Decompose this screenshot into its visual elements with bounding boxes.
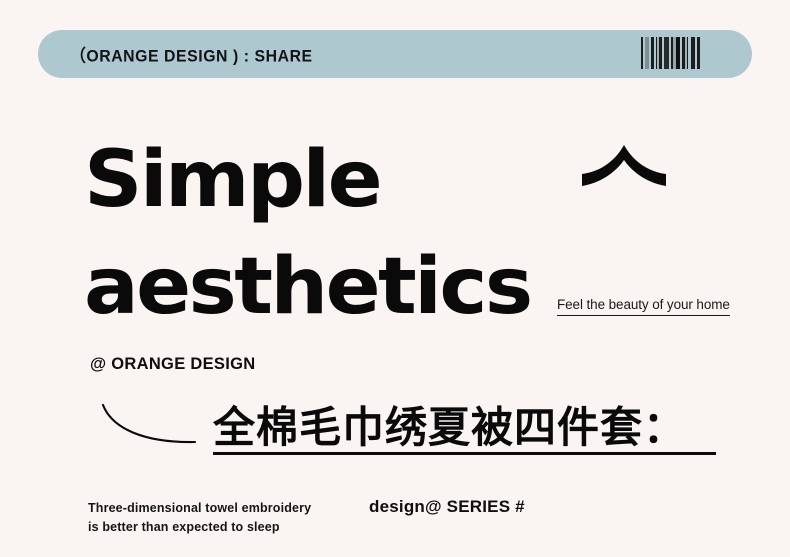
tagline-text: Feel the beauty of your home [557,297,730,316]
barcode-icon [641,37,700,69]
product-title-cn: 全棉毛巾绣夏被四件套： [213,402,716,453]
barcode-bar [697,37,700,69]
footer-description: Three-dimensional towel embroidery is be… [88,499,311,538]
headline-line-1: Simple [84,141,380,219]
footer-series-label: design@ SERIES # [369,497,525,517]
headline-line-2: aesthetics [84,248,531,326]
header-title: （ORANGE DESIGN ) : SHARE [70,42,331,67]
product-title-block: 全棉毛巾绣夏被四件套： [213,402,716,452]
footer-description-line-2: is better than expected to sleep [88,518,311,537]
curved-swoosh-icon [98,402,198,448]
footer-description-line-1: Three-dimensional towel embroidery [88,499,311,518]
poster-canvas: （ORANGE DESIGN ) : SHARE Simple aestheti… [0,0,790,557]
product-title-underline [213,452,716,455]
header-title-text: （ORANGE DESIGN ) : SHARE [70,42,313,67]
chevron-up-icon [578,141,672,189]
header-bar: （ORANGE DESIGN ) : SHARE [38,30,752,78]
brand-handle: @ ORANGE DESIGN [90,355,255,374]
